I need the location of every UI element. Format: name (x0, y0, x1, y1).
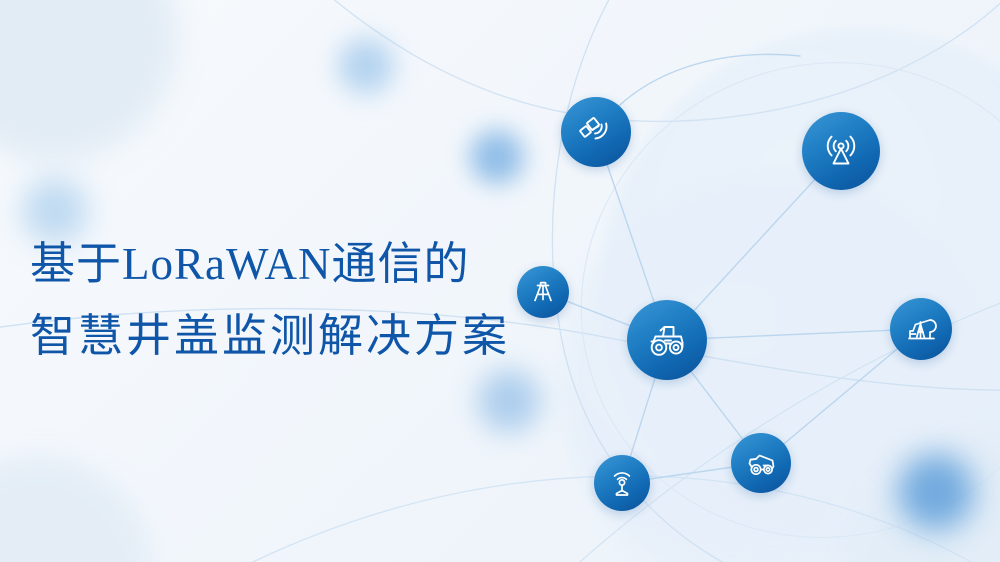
node-tripod[interactable] (517, 266, 569, 318)
glow-dot-bottom-right (898, 454, 974, 530)
globe-sphere (600, 28, 1000, 548)
glow-dot-top (338, 38, 394, 94)
slide-canvas: 基于LoRaWAN通信的 智慧井盖监测解决方案 (0, 0, 1000, 562)
page-title-line-2: 智慧井盖监测解决方案 (30, 300, 570, 372)
sensor-beacon-icon (605, 466, 639, 500)
node-oilpump[interactable] (890, 298, 952, 360)
oil-pumpjack-icon (903, 311, 939, 347)
node-harvester[interactable] (731, 433, 791, 493)
tractor-icon (643, 316, 691, 364)
survey-tripod-icon (528, 277, 558, 307)
satellite-icon (576, 112, 616, 152)
bottom-left-blob (0, 455, 152, 562)
node-sensor[interactable] (594, 455, 650, 511)
bottom-right-blob (846, 436, 1000, 562)
top-left-blob (0, 0, 178, 162)
node-satellite[interactable] (561, 97, 631, 167)
node-antenna[interactable] (802, 112, 880, 190)
glow-dot-upper-center (470, 130, 524, 184)
node-tractor[interactable] (627, 300, 707, 380)
antenna-tower-icon (819, 129, 863, 173)
glow-dot-mid-center (478, 370, 540, 432)
title-block: 基于LoRaWAN通信的 智慧井盖监测解决方案 (30, 228, 570, 372)
page-title-line-1: 基于LoRaWAN通信的 (30, 228, 570, 300)
harvester-icon (743, 445, 779, 481)
